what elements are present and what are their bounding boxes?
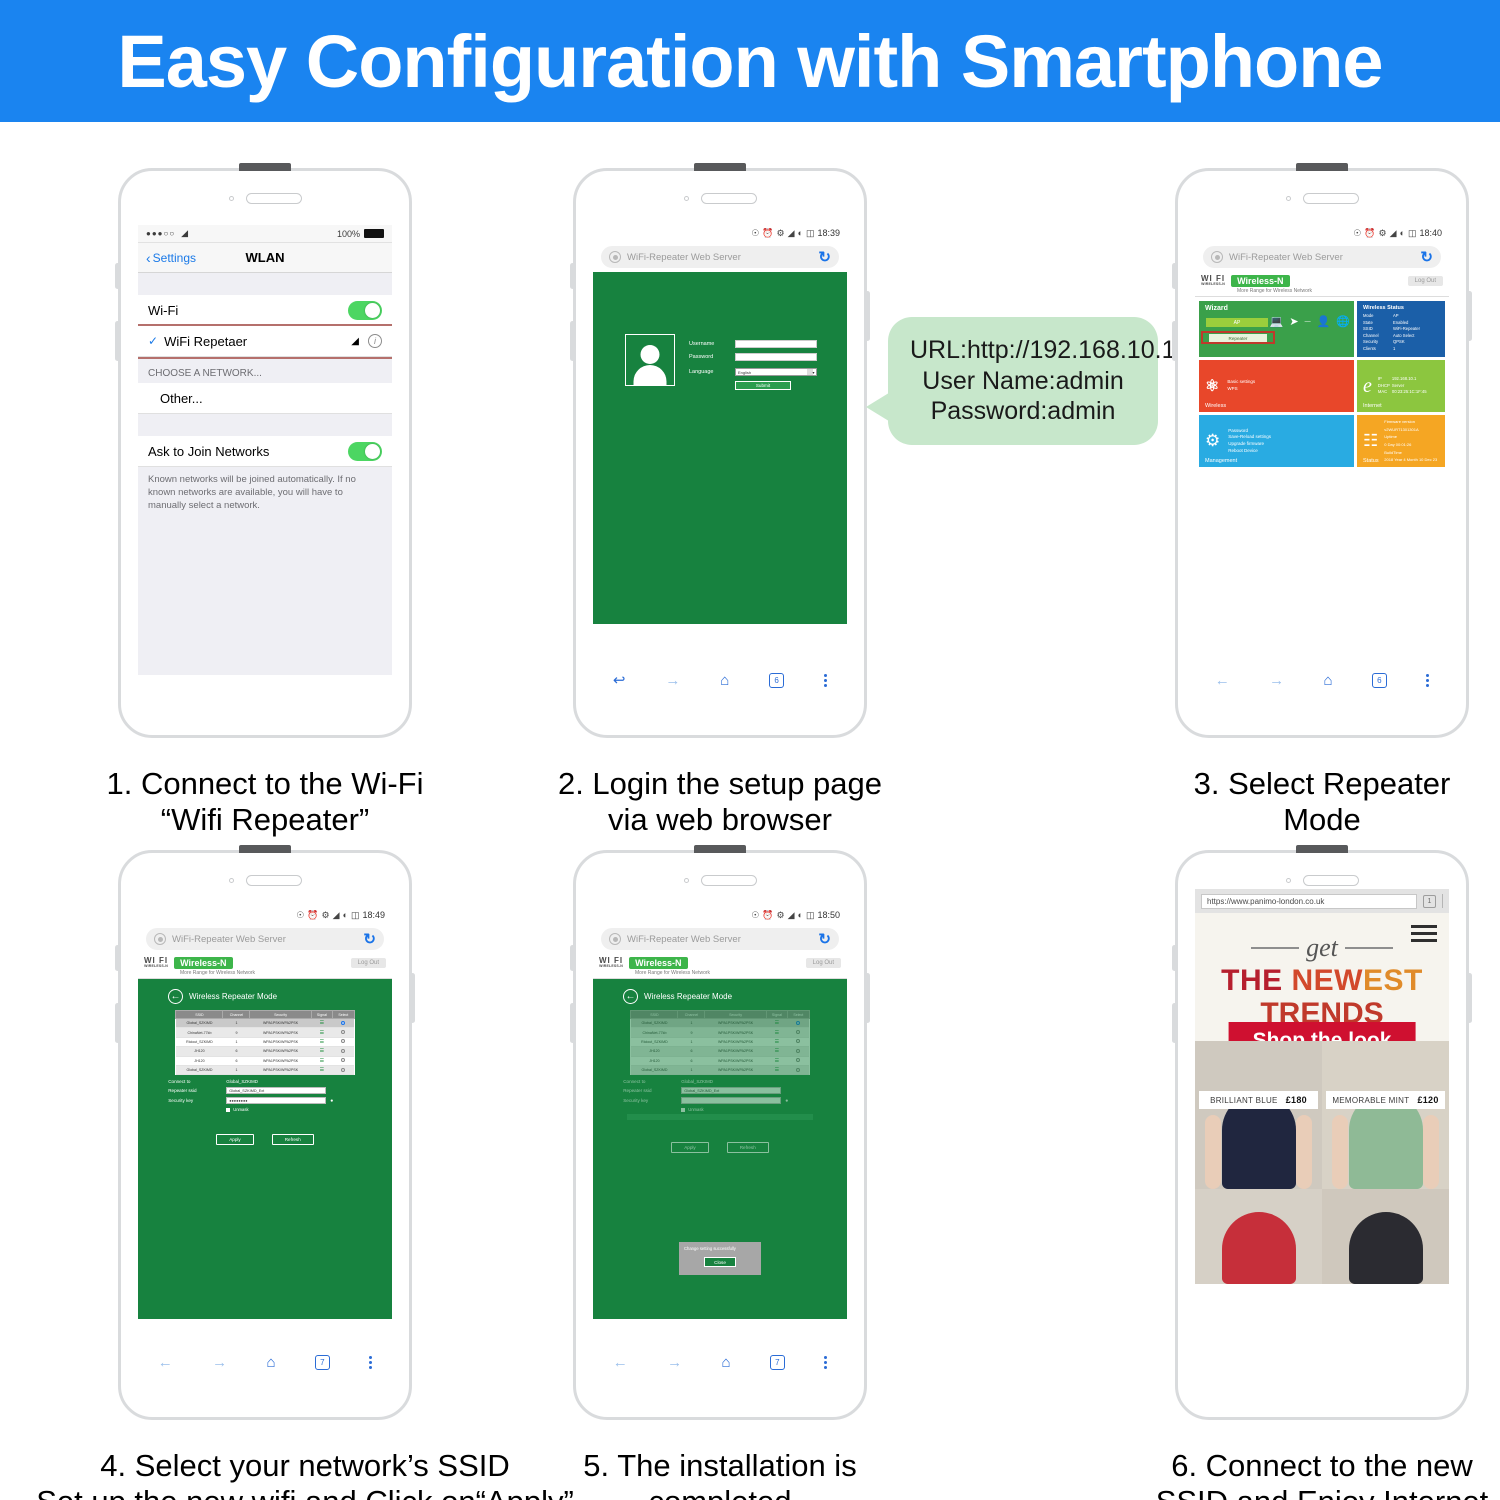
table-row[interactable]: JH120 6 WPA1PSK/WPA2PSK ☰ xyxy=(176,1047,354,1056)
alarm-icon: ⏰ xyxy=(1364,228,1375,239)
status-val: 1 xyxy=(1393,346,1439,353)
tab-count-button[interactable]: 6 xyxy=(1372,673,1387,688)
hamburger-icon[interactable] xyxy=(1411,925,1437,942)
cell-channel: 6 xyxy=(678,1047,705,1056)
internet-tile-rows: IP192.168.10.1 DHCPServer MAC00:23:25:1C… xyxy=(1378,376,1427,396)
select-radio xyxy=(796,1049,800,1053)
user-avatar-icon xyxy=(625,334,675,386)
signal-icon: ◐ xyxy=(343,910,348,920)
back-arrow-icon[interactable]: ← xyxy=(158,1354,173,1371)
repeater-ssid-input[interactable]: Global_SZKIMD_Ext xyxy=(226,1087,326,1094)
squares-icon: ☷ xyxy=(1363,431,1378,451)
select-radio xyxy=(796,1021,800,1025)
android-status-bar-4: ☉ ⏰ ⚙ ◢ ◐ ◫ 18:49 xyxy=(138,907,392,923)
table-row[interactable]: ChinaNet-77kb 9 WPA1PSK/WPA2PSK ☰ xyxy=(176,1028,354,1037)
phone-top-notch xyxy=(694,163,746,171)
step-1: ●●●○○ ◢ 100% ‹ Settings WLAN Wi-Fi xyxy=(118,168,412,738)
cell-signal: ☰ xyxy=(766,1065,787,1074)
status-key: Clients xyxy=(1363,346,1393,353)
cell-channel: 9 xyxy=(678,1028,705,1037)
wifi-icon: ◢ xyxy=(333,910,340,921)
cell-select xyxy=(788,1056,809,1065)
earpiece-speaker xyxy=(246,875,302,886)
table-row[interactable]: Riciout_SZKIMD 1 WPA1PSK/WPA2PSK ☰ xyxy=(176,1037,354,1046)
volume-button[interactable] xyxy=(570,1003,575,1043)
signal-icon: ◐ xyxy=(798,228,803,238)
shield-icon xyxy=(609,251,621,263)
volume-button[interactable] xyxy=(115,1003,120,1043)
more-vertical-icon[interactable] xyxy=(1426,674,1429,687)
tile-wizard[interactable]: Wizard AP Repeater 💻 ➤ — 👤 🌐 xyxy=(1199,301,1354,357)
ask-to-join-toggle[interactable] xyxy=(348,442,382,461)
password-input[interactable] xyxy=(735,353,817,361)
wireless-tile-lines: Basic settings WPS xyxy=(1227,379,1255,393)
signal-icon: ☰ xyxy=(775,1030,779,1036)
volume-button[interactable] xyxy=(570,321,575,361)
language-select[interactable]: English ▾ xyxy=(735,368,817,376)
laptop-icon: 💻 xyxy=(1270,315,1284,328)
security-key-label: Security key xyxy=(168,1098,222,1103)
cell-ssid: JH120 xyxy=(631,1056,678,1065)
reload-icon[interactable]: ↻ xyxy=(818,930,831,948)
product-card-red[interactable] xyxy=(1195,1189,1322,1284)
submit-button[interactable]: Submit xyxy=(735,381,791,390)
select-radio xyxy=(796,1039,800,1043)
bluetooth-icon: ⚙ xyxy=(777,910,785,921)
wifi-logo-icon: WI FI WIRELESS-N xyxy=(144,957,168,969)
phone-speaker-row xyxy=(576,875,864,886)
th-channel: Channel xyxy=(223,1011,250,1019)
phone-speaker-row xyxy=(1178,875,1466,886)
vibrate-icon: ☉ xyxy=(751,228,759,239)
cell-select xyxy=(788,1019,809,1028)
phone-top-notch xyxy=(694,845,746,853)
phone-2-screen: ☉ ⏰ ⚙ ◢ ◐ ◫ 18:39 WiFi-Repeater Web Serv… xyxy=(593,225,847,695)
connect-to-row: Connect to Global_SZKIMD xyxy=(623,1079,817,1084)
apply-button: Apply xyxy=(671,1142,709,1153)
management-tile-lines: Password Save-Reload settings Upgrade fi… xyxy=(1228,428,1271,455)
cell-signal: ☰ xyxy=(311,1047,332,1056)
product-row-2 xyxy=(1195,1189,1449,1284)
security-key-input[interactable]: ●●●●●●●● xyxy=(226,1097,326,1104)
cell-select[interactable] xyxy=(333,1037,354,1046)
cell-security: WPA1PSK/WPA2PSK xyxy=(705,1037,766,1046)
refresh-button: Refresh xyxy=(727,1142,769,1153)
phone-speaker-row xyxy=(121,193,409,204)
phone-4-screen: ☉ ⏰ ⚙ ◢ ◐ ◫ 18:49 WiFi-Repeater Web Serv… xyxy=(138,907,392,1377)
unmask-row[interactable]: Unmask xyxy=(226,1107,362,1112)
more-vertical-icon[interactable] xyxy=(369,1356,372,1369)
get-word: get xyxy=(1306,933,1338,963)
tile-management[interactable]: ⚙ Password Save-Reload settings Upgrade … xyxy=(1199,415,1354,467)
signal-icon: ☰ xyxy=(320,1020,324,1026)
router-brand-badge: Wireless-N xyxy=(1231,275,1289,287)
volume-button[interactable] xyxy=(115,321,120,361)
cell-security: WPA1PSK/WPA2PSK xyxy=(705,1047,766,1056)
username-input[interactable] xyxy=(735,340,817,348)
router-header-5: WI FI WIRELESS-N Wireless-N Log Out xyxy=(593,954,847,969)
wizard-flow-diagram: 💻 ➤ — 👤 🌐 xyxy=(1270,315,1350,328)
network-list-table: SSID Channel Security Signal Select Glob… xyxy=(175,1010,354,1075)
repeater-page-header: ← Wireless Repeater Mode xyxy=(144,985,386,1010)
step-2-caption: 2. Login the setup page via web browser xyxy=(455,766,985,839)
cell-signal: ☰ xyxy=(766,1028,787,1037)
wifi-icon: ◢ xyxy=(181,228,188,239)
logout-button[interactable]: Log Out xyxy=(806,958,841,968)
browser-omnibox-4[interactable]: WiFi-Repeater Web Server ↻ xyxy=(146,928,384,950)
phone-5-screen: ☉ ⏰ ⚙ ◢ ◐ ◫ 18:50 WiFi-Repeater Web Serv… xyxy=(593,907,847,1377)
repeater-page-header: ← Wireless Repeater Mode xyxy=(599,985,841,1010)
repeater-ssid-input: Global_SZKIMD_Ext xyxy=(681,1087,781,1094)
browser-omnibox-3[interactable]: WiFi-Repeater Web Server ↻ xyxy=(1203,246,1441,268)
model-dress xyxy=(1222,1212,1296,1284)
wireless-tile-footer: Wireless xyxy=(1205,403,1226,409)
phone-1-screen: ●●●○○ ◢ 100% ‹ Settings WLAN Wi-Fi xyxy=(138,225,392,675)
front-camera-icon xyxy=(684,878,689,883)
tab-count-button[interactable]: 6 xyxy=(769,673,784,688)
table-row[interactable]: Global_SZKIMD 1 WPA1PSK/WPA2PSK ☰ xyxy=(176,1065,354,1074)
repeater-page-title: Wireless Repeater Mode xyxy=(189,992,277,1001)
rule-left xyxy=(1251,947,1299,949)
tab-count-button[interactable]: 7 xyxy=(315,1355,330,1370)
wifi-toggle[interactable] xyxy=(348,301,382,320)
wizard-mode-repeater[interactable]: Repeater xyxy=(1209,334,1267,342)
refresh-button[interactable]: Refresh xyxy=(272,1134,314,1145)
unmask-checkbox xyxy=(681,1108,685,1112)
ios-spacer-1 xyxy=(138,273,392,295)
repeater-settings-form: Connect to Global_SZKIMD Repeater ssid G… xyxy=(168,1079,362,1145)
reload-icon[interactable]: ↻ xyxy=(363,930,376,948)
product-price: £180 xyxy=(1286,1095,1307,1105)
credentials-callout: URL:http://192.168.10.1 User Name:admin … xyxy=(888,317,1158,445)
ask-to-join-footnote: Known networks will be joined automatica… xyxy=(138,467,392,519)
more-vertical-icon[interactable] xyxy=(824,1356,827,1369)
reload-icon[interactable]: ↻ xyxy=(818,248,831,266)
ios-spacer-2 xyxy=(138,414,392,436)
browser-omnibox-2[interactable]: WiFi-Repeater Web Server ↻ xyxy=(601,246,839,268)
cell-select[interactable] xyxy=(333,1028,354,1037)
repeater-icon: ➤ xyxy=(1289,315,1298,328)
select-radio[interactable] xyxy=(341,1030,345,1034)
shop-url-input[interactable]: https://www.panimo-london.co.uk xyxy=(1201,894,1417,909)
omnibox-url-2: WiFi-Repeater Web Server xyxy=(627,252,741,263)
power-button[interactable] xyxy=(865,291,870,341)
connect-to-label: Connect to xyxy=(168,1079,222,1084)
wireless-status-title: Wireless Status xyxy=(1363,305,1439,311)
battery-percent-label: 100% xyxy=(337,229,360,239)
other-network-label: Other... xyxy=(160,391,203,406)
signal-icon: ☰ xyxy=(320,1058,324,1064)
back-arrow-icon[interactable]: ↩ xyxy=(613,671,626,689)
step-3: ☉ ⏰ ⚙ ◢ ◐ ◫ 18:40 WiFi-Repeater Web Serv… xyxy=(1175,168,1469,738)
forward-arrow-icon[interactable]: → xyxy=(1269,672,1284,689)
android-status-bar-2: ☉ ⏰ ⚙ ◢ ◐ ◫ 18:39 xyxy=(593,225,847,241)
step-5-caption: 5. The installation is completed xyxy=(455,1448,985,1500)
product-card-mint[interactable]: MEMORABLE MINT £120 xyxy=(1322,1041,1449,1189)
alarm-icon: ⏰ xyxy=(762,228,773,239)
back-arrow-icon[interactable]: ← xyxy=(613,1354,628,1371)
forward-arrow-icon[interactable]: → xyxy=(667,1354,682,1371)
mgmt-line-4: Reboot Device xyxy=(1228,448,1271,455)
vibrate-icon: ☉ xyxy=(751,910,759,921)
cell-security: WPA1PSK/WPA2PSK xyxy=(250,1028,311,1037)
bluetooth-icon: ⚙ xyxy=(1379,228,1387,239)
signal-icon: ☰ xyxy=(775,1048,779,1054)
router-brand-badge: Wireless-N xyxy=(174,957,232,969)
select-radio xyxy=(796,1068,800,1072)
eye-icon[interactable]: ● xyxy=(330,1098,333,1104)
select-radio[interactable] xyxy=(341,1068,345,1072)
wireless-line-1: Basic settings xyxy=(1227,379,1255,386)
product-card-dark[interactable] xyxy=(1322,1189,1449,1284)
power-button[interactable] xyxy=(1467,973,1472,1023)
signal-icon: ☰ xyxy=(320,1048,324,1054)
power-button[interactable] xyxy=(1467,291,1472,341)
status-val-2: 0 Day 00:01:26 xyxy=(1384,441,1437,449)
router-header-3: WI FI WIRELESS-N Wireless-N Log Out xyxy=(1195,272,1449,287)
signal-icon: ☰ xyxy=(775,1020,779,1026)
tile-internet[interactable]: e IP192.168.10.1 DHCPServer MAC00:23:25:… xyxy=(1357,360,1445,412)
browser-omnibox-5[interactable]: WiFi-Repeater Web Server ↻ xyxy=(601,928,839,950)
phone-frame-5: ☉ ⏰ ⚙ ◢ ◐ ◫ 18:50 WiFi-Repeater Web Serv… xyxy=(573,850,867,1420)
check-icon: ✓ xyxy=(148,334,158,348)
back-circle-icon[interactable]: ← xyxy=(168,989,183,1004)
cell-ssid: Riciout_SZKIMD xyxy=(176,1037,223,1046)
cell-security: WPA1PSK/WPA2PSK xyxy=(250,1019,311,1028)
model-arm-left xyxy=(1332,1115,1348,1189)
step-1-caption: 1. Connect to the Wi-Fi “Wifi Repeater” xyxy=(0,766,530,839)
select-radio[interactable] xyxy=(341,1058,345,1062)
cell-security: WPA1PSK/WPA2PSK xyxy=(250,1037,311,1046)
cell-ssid: JH120 xyxy=(631,1047,678,1056)
bluetooth-icon: ⚙ xyxy=(777,228,785,239)
signal-icon: ☰ xyxy=(320,1067,324,1073)
cell-ssid: Global_SZKIMD xyxy=(176,1019,223,1028)
success-dialog: Change setting successfully Close xyxy=(679,1242,761,1275)
earpiece-speaker xyxy=(246,193,302,204)
phone-top-notch xyxy=(239,163,291,171)
battery-icon xyxy=(364,229,384,238)
mgmt-line-2: Save-Reload settings xyxy=(1228,434,1271,441)
front-camera-icon xyxy=(1286,196,1291,201)
router-subtitle-4: More Range for Wireless Network xyxy=(138,969,392,979)
other-network-row[interactable]: Other... xyxy=(138,383,392,414)
home-icon[interactable]: ⌂ xyxy=(721,1354,730,1371)
mgmt-line-1: Password xyxy=(1228,428,1271,435)
cell-select[interactable] xyxy=(333,1047,354,1056)
router-subtitle-5: More Range for Wireless Network xyxy=(593,969,847,979)
hero-headline-line-1: THE NEWEST xyxy=(1195,965,1449,997)
signal-icon: ☰ xyxy=(775,1058,779,1064)
phone-speaker-row xyxy=(576,193,864,204)
forward-arrow-icon[interactable]: → xyxy=(212,1354,227,1371)
cell-signal: ☰ xyxy=(311,1065,332,1074)
cell-security: WPA1PSK/WPA2PSK xyxy=(705,1056,766,1065)
router-dashboard-tiles: Wizard AP Repeater 💻 ➤ — 👤 🌐 xyxy=(1195,297,1449,471)
logout-button[interactable]: Log Out xyxy=(1408,276,1443,286)
cell-signal: ☰ xyxy=(311,1037,332,1046)
cell-signal: ☰ xyxy=(311,1056,332,1065)
status-key-3: BuildTime xyxy=(1384,449,1437,457)
wifi-icon: ◢ xyxy=(788,910,795,921)
vibrate-icon: ☉ xyxy=(296,910,304,921)
table-row[interactable]: JH120 6 WPA1PSK/WPA2PSK ☰ xyxy=(176,1056,354,1065)
omnibox-url-4: WiFi-Repeater Web Server xyxy=(172,934,286,945)
power-button[interactable] xyxy=(865,973,870,1023)
cell-channel: 6 xyxy=(678,1056,705,1065)
tile-status[interactable]: ☷ Firmware version v2WURT1301301A Uptime… xyxy=(1357,415,1445,467)
cell-select[interactable] xyxy=(333,1019,354,1028)
status-val-1: v2WURT1301301A xyxy=(1384,426,1437,434)
product-name: BRILLIANT BLUE xyxy=(1210,1096,1278,1105)
internet-tile-footer: Internet xyxy=(1363,403,1382,409)
back-circle-icon[interactable]: ← xyxy=(623,989,638,1004)
model-arm-right xyxy=(1423,1115,1439,1189)
select-radio[interactable] xyxy=(341,1039,345,1043)
vibrate-icon: ☉ xyxy=(1353,228,1361,239)
repeater-actions: Apply Refresh xyxy=(623,1142,817,1153)
router-logo-small: WIRELESS-N xyxy=(1201,283,1225,287)
cell-select[interactable] xyxy=(333,1056,354,1065)
username-label: Username xyxy=(689,341,727,347)
model-dress xyxy=(1349,1212,1423,1284)
steps-grid: ●●●○○ ◢ 100% ‹ Settings WLAN Wi-Fi xyxy=(0,122,1500,1500)
security-key-row: Security key ● xyxy=(623,1097,817,1104)
tile-wireless[interactable]: ⚛ Basic settings WPS Wireless xyxy=(1199,360,1354,412)
browser-navbar-3: ← → ⌂ 6 xyxy=(1195,665,1449,695)
back-arrow-icon[interactable]: ← xyxy=(1215,672,1230,689)
management-tile-footer: Management xyxy=(1205,458,1237,464)
table-row[interactable]: Global_SZKIMD 1 WPA1PSK/WPA2PSK ☰ xyxy=(176,1019,354,1028)
choose-network-header: CHOOSE A NETWORK... xyxy=(138,357,392,383)
browser-navbar-5: ← → ⌂ 7 xyxy=(593,1347,847,1377)
cell-ssid: Riciout_SZKIMD xyxy=(631,1037,678,1046)
front-camera-icon xyxy=(684,196,689,201)
front-camera-icon xyxy=(229,878,234,883)
status-time-4: 18:49 xyxy=(362,910,385,920)
th-signal: Signal xyxy=(766,1011,787,1019)
callout-url: URL:http://192.168.10.1 xyxy=(910,335,1136,366)
progress-strip xyxy=(627,1114,813,1120)
ask-to-join-row[interactable]: Ask to Join Networks xyxy=(138,436,392,467)
bluetooth-icon: ⚙ xyxy=(322,910,330,921)
table-row: JH120 6 WPA1PSK/WPA2PSK ☰ xyxy=(631,1047,809,1056)
step-6-caption: 6. Connect to the new SSID and Enjoy Int… xyxy=(1057,1448,1500,1500)
language-value: English xyxy=(738,370,751,375)
browser-navbar-2: ↩ → ⌂ 6 xyxy=(593,665,847,695)
th-ssid: SSID xyxy=(176,1011,223,1019)
tile-wireless-status: Wireless Status ModeAP StateEnabled SSID… xyxy=(1357,301,1445,357)
rule-right xyxy=(1345,947,1393,949)
product-name: MEMORABLE MINT xyxy=(1332,1096,1409,1105)
step-2: ☉ ⏰ ⚙ ◢ ◐ ◫ 18:39 WiFi-Repeater Web Serv… xyxy=(573,168,867,738)
android-status-bar-3: ☉ ⏰ ⚙ ◢ ◐ ◫ 18:40 xyxy=(1195,225,1449,241)
signal-icon: ◐ xyxy=(798,910,803,920)
th-channel: Channel xyxy=(678,1011,705,1019)
home-icon[interactable]: ⌂ xyxy=(1323,672,1332,689)
tab-count-button[interactable]: 7 xyxy=(770,1355,785,1370)
phone-top-notch xyxy=(1296,163,1348,171)
wifi-toggle-row[interactable]: Wi-Fi xyxy=(138,295,392,326)
apply-button[interactable]: Apply xyxy=(216,1134,254,1145)
phone-speaker-row xyxy=(121,875,409,886)
repeater-ssid-label: Repeater ssid xyxy=(168,1088,222,1093)
unmask-label: Unmask xyxy=(688,1107,703,1112)
security-key-input xyxy=(681,1097,781,1104)
reload-icon[interactable]: ↻ xyxy=(1420,248,1433,266)
internet-val: 00:23:25:1C:1F:45 xyxy=(1392,389,1427,396)
forward-arrow-icon[interactable]: → xyxy=(665,672,680,689)
shield-icon xyxy=(1211,251,1223,263)
select-radio xyxy=(796,1030,800,1034)
repeater-ssid-label: Repeater ssid xyxy=(623,1088,677,1093)
toolbar-divider xyxy=(1442,894,1443,908)
phone-frame-6: https://www.panimo-london.co.uk 1 get TH… xyxy=(1175,850,1469,1420)
password-row: Password xyxy=(689,353,817,361)
wizard-title: Wizard xyxy=(1205,305,1348,312)
battery-icon: ◫ xyxy=(806,228,815,239)
flow-dash-icon: — xyxy=(1305,319,1311,325)
headline-part-b: NEW xyxy=(1291,964,1363,997)
home-icon[interactable]: ⌂ xyxy=(266,1354,275,1371)
mgmt-line-3: Upgrade firmware xyxy=(1228,441,1271,448)
shop-browser-bar: https://www.panimo-london.co.uk 1 xyxy=(1195,889,1449,913)
th-select: Select xyxy=(788,1011,809,1019)
cell-security: WPA1PSK/WPA2PSK xyxy=(705,1065,766,1074)
ios-status-bar: ●●●○○ ◢ 100% xyxy=(138,225,392,243)
alarm-icon: ⏰ xyxy=(307,910,318,921)
battery-icon: ◫ xyxy=(1408,228,1417,239)
shop-hero: get THE NEWEST TRENDS Shop the look xyxy=(1195,913,1449,1041)
wizard-mode-ap[interactable]: AP xyxy=(1206,318,1268,327)
step-6: https://www.panimo-london.co.uk 1 get TH… xyxy=(1175,850,1469,1420)
callout-password: Password:admin xyxy=(910,396,1136,427)
product-card-blue[interactable]: BRILLIANT BLUE £180 xyxy=(1195,1041,1322,1189)
more-vertical-icon[interactable] xyxy=(824,674,827,687)
omnibox-url-3: WiFi-Repeater Web Server xyxy=(1229,252,1343,263)
shield-icon xyxy=(609,933,621,945)
volume-button[interactable] xyxy=(1172,321,1177,361)
tab-count-button[interactable]: 1 xyxy=(1423,895,1436,908)
info-icon[interactable]: i xyxy=(368,334,382,348)
unmask-checkbox[interactable] xyxy=(226,1108,230,1112)
table-row: Global_SZKIMD 1 WPA1PSK/WPA2PSK ☰ xyxy=(631,1065,809,1074)
browser-navbar-4: ← → ⌂ 7 xyxy=(138,1347,392,1377)
product-row-1: BRILLIANT BLUE £180 MEMORABLE MINT £120 xyxy=(1195,1041,1449,1189)
headline-part-a: THE xyxy=(1221,964,1291,997)
repeater-mode-page-4: ← Wireless Repeater Mode SSID Channel Se… xyxy=(138,979,392,1319)
status-time-2: 18:39 xyxy=(817,228,840,238)
wifi-icon: ◢ xyxy=(788,228,795,239)
earpiece-speaker xyxy=(1303,193,1359,204)
table-header-row: SSID Channel Security Signal Select xyxy=(176,1011,354,1019)
select-radio[interactable] xyxy=(341,1049,345,1053)
volume-button[interactable] xyxy=(1172,1003,1177,1043)
th-security: Security xyxy=(250,1011,311,1019)
headline-part-c: EST xyxy=(1363,964,1423,997)
cell-select[interactable] xyxy=(333,1065,354,1074)
power-button[interactable] xyxy=(410,973,415,1023)
select-radio[interactable] xyxy=(341,1021,345,1025)
wifi-row-label: Wi-Fi xyxy=(148,303,178,318)
product-label-blue: BRILLIANT BLUE £180 xyxy=(1199,1091,1318,1109)
dialog-close-button[interactable]: Close xyxy=(704,1257,736,1267)
front-camera-icon xyxy=(229,196,234,201)
logout-button[interactable]: Log Out xyxy=(351,958,386,968)
home-icon[interactable]: ⌂ xyxy=(720,672,729,689)
repeater-page-title: Wireless Repeater Mode xyxy=(644,992,732,1001)
connected-network-row[interactable]: ✓ WiFi Repetaer ◢ i xyxy=(138,326,392,357)
